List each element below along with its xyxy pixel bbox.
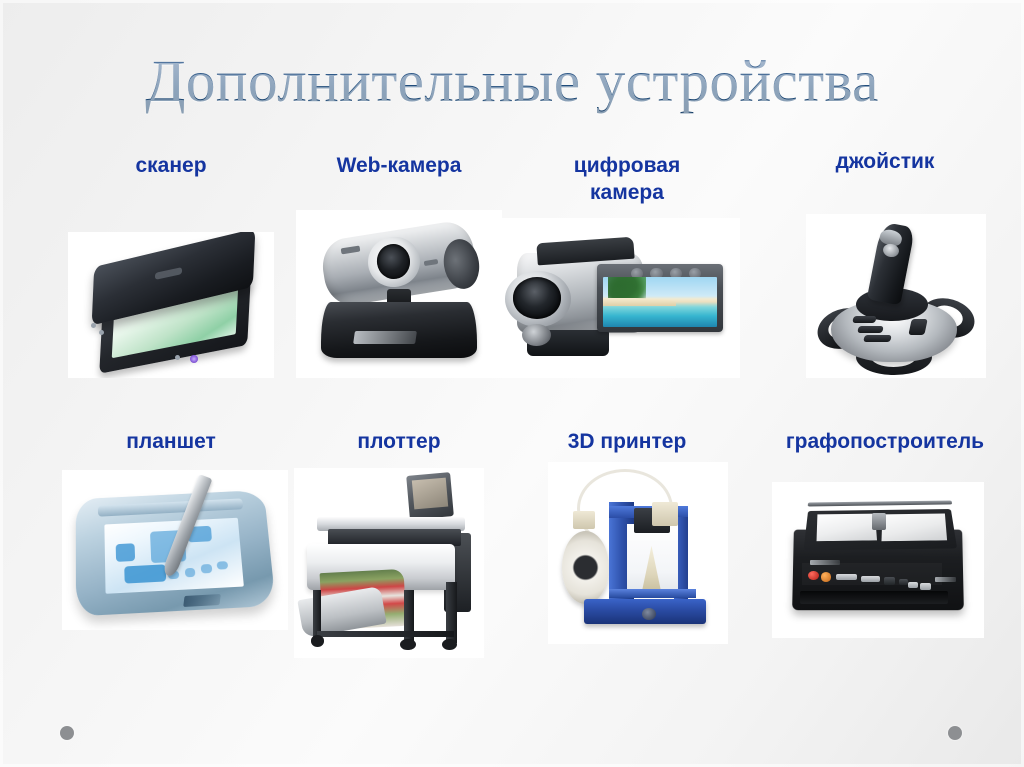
graphics-tablet-icon	[62, 470, 288, 630]
device-label-webcam: Web-камера	[296, 152, 502, 179]
page-title: Дополнительные устройства	[0, 46, 1024, 116]
large-format-plotter-icon	[294, 468, 484, 658]
digital-camcorder-icon	[498, 218, 740, 378]
device-label-digital-camera: цифровая камера	[524, 152, 730, 206]
device-image-graphics-tablet	[62, 470, 288, 630]
prev-slide-dot[interactable]	[60, 726, 74, 740]
device-label-graphics-tablet: планшет	[68, 428, 274, 455]
device-image-webcam	[296, 210, 502, 378]
device-image-3d-printer	[548, 462, 728, 644]
device-label-3d-printer: 3D принтер	[524, 428, 730, 455]
device-image-digital-camera	[498, 218, 740, 378]
device-image-plotter	[294, 468, 484, 658]
flatbed-pen-plotter-icon	[772, 482, 984, 638]
device-label-scanner: сканер	[68, 152, 274, 179]
device-image-joystick	[806, 214, 986, 378]
next-slide-dot[interactable]	[948, 726, 962, 740]
device-label-joystick: джойстик	[782, 148, 988, 175]
flatbed-scanner-icon	[68, 232, 274, 378]
webcam-icon	[296, 210, 502, 378]
device-image-scanner	[68, 232, 274, 378]
joystick-icon	[806, 214, 986, 378]
device-image-pen-plotter	[772, 482, 984, 638]
device-label-pen-plotter: графопостроитель	[752, 428, 1018, 455]
slide-canvas: Дополнительные устройства сканер Web-кам…	[0, 0, 1024, 767]
3d-printer-icon	[548, 462, 728, 644]
device-label-plotter: плоттер	[296, 428, 502, 455]
